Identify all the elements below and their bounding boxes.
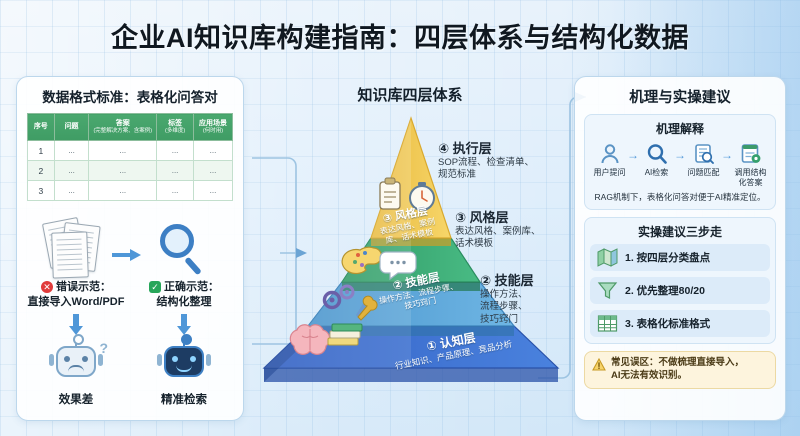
structured-answer-icon	[733, 141, 768, 167]
flow-step-match: 问题匹配	[686, 141, 721, 178]
correct-example-label: ✓ 正确示范： 结构化整理	[132, 280, 236, 310]
step-item-3[interactable]: 3. 表格化标准格式	[590, 310, 770, 337]
table-icon	[597, 314, 618, 333]
steps-title: 实操建议三步走	[590, 223, 770, 240]
down-arrow-icon	[177, 314, 191, 336]
table-row: 3 ... ... ... ...	[28, 181, 233, 201]
cell-seq: 2	[28, 161, 55, 181]
cell-seq: 1	[28, 141, 55, 161]
page-title: 企业AI知识库构建指南：四层体系与结构化数据	[0, 16, 800, 55]
cell-answer: ...	[89, 141, 157, 161]
flow-arrow-icon: →	[627, 141, 639, 162]
cell-scenario: ...	[194, 141, 233, 161]
cell-answer: ...	[89, 181, 157, 201]
cell-question: ...	[54, 181, 89, 201]
four-layer-pyramid: ③ 风格层 表达风格、案例 库、话术模板 ② 技能层 操作方法、流程步骤、 技巧…	[252, 110, 570, 400]
flow-arrow-icon: →	[674, 141, 686, 162]
qa-table: 序号 问题 答案 (完整解决方案、含案例) 标签 (多维度) 应用场景	[27, 113, 233, 201]
cell-tag: ...	[157, 181, 194, 201]
step-item-1[interactable]: 1. 按四层分类盘点	[590, 244, 770, 271]
table-header-row: 序号 问题 答案 (完整解决方案、含案例) 标签 (多维度) 应用场景	[28, 114, 233, 141]
flow-step-answer: 调用结构 化答案	[733, 141, 768, 187]
cell-question: ...	[54, 161, 89, 181]
clipboard-icon	[380, 178, 400, 209]
common-mistake-warning: 常见误区：不做梳理直接导入， AI无法有效识别。	[584, 351, 776, 389]
magnifier-icon	[132, 218, 236, 280]
flow-step-search: AI检索	[639, 141, 674, 178]
down-arrow-icon	[69, 314, 83, 336]
correct-example-column: ✓ 正确示范： 结构化整理 精准检索	[132, 218, 236, 407]
wrong-result-caption: 效果差	[24, 391, 128, 407]
wrong-example-column: ✕ 错误示范： 直接导入Word/PDF ? 效果差	[24, 218, 128, 407]
table-row: 2 ... ... ... ...	[28, 161, 233, 181]
cell-scenario: ...	[194, 181, 233, 201]
correct-result-caption: 精准检索	[132, 391, 236, 407]
flow-step-user: 用户提问	[592, 141, 627, 178]
sad-robot-icon: ?	[24, 338, 128, 388]
cell-tag: ...	[157, 141, 194, 161]
th-tag: 标签 (多维度)	[157, 114, 194, 141]
happy-robot-icon	[132, 338, 236, 388]
check-icon: ✓	[149, 281, 161, 293]
stacked-documents-icon	[24, 218, 128, 280]
right-panel-title: 机理与实操建议	[575, 77, 785, 114]
cross-icon: ✕	[41, 281, 53, 293]
th-answer: 答案 (完整解决方案、含案例)	[89, 114, 157, 141]
th-seq: 序号	[28, 114, 55, 141]
funnel-icon	[597, 281, 618, 300]
qa-table-wrapper: 序号 问题 答案 (完整解决方案、含案例) 标签 (多维度) 应用场景	[17, 113, 243, 201]
search-icon	[639, 141, 674, 167]
map-icon	[597, 248, 618, 267]
books-icon	[328, 324, 362, 345]
steps-card: 实操建议三步走 1. 按四层分类盘点 2. 优先整理80/20	[584, 217, 776, 344]
mechanism-flow: 用户提问 → AI检索 →	[590, 141, 770, 187]
mechanism-card: 机理解释 用户提问 → AI检索	[584, 114, 776, 210]
table-row: 1 ... ... ... ...	[28, 141, 233, 161]
cell-tag: ...	[157, 161, 194, 181]
th-question: 问题	[54, 114, 89, 141]
warning-text: 常见误区：不做梳理直接导入， AI无法有效识别。	[611, 357, 744, 383]
cell-question: ...	[54, 141, 89, 161]
left-panel-title: 数据格式标准：表格化问答对	[17, 77, 243, 113]
compare-block: ✕ 错误示范： 直接导入Word/PDF ? 效果差 ✓ 正确示范：	[16, 218, 244, 421]
pyramid-title: 知识库四层体系	[250, 84, 570, 105]
cell-seq: 3	[28, 181, 55, 201]
document-match-icon	[686, 141, 721, 167]
warning-triangle-icon	[592, 358, 606, 371]
mechanism-title: 机理解释	[590, 120, 770, 137]
step-item-2[interactable]: 2. 优先整理80/20	[590, 277, 770, 304]
wrong-example-label: ✕ 错误示范： 直接导入Word/PDF	[24, 280, 128, 310]
cell-answer: ...	[89, 161, 157, 181]
th-scenario: 应用场景 (何时用)	[194, 114, 233, 141]
user-icon	[592, 141, 627, 167]
rag-note: RAG机制下，表格化问答对便于AI精准定位。	[590, 192, 770, 203]
cell-scenario: ...	[194, 161, 233, 181]
flow-arrow-icon: →	[721, 141, 733, 162]
mechanism-advice-panel: 机理与实操建议 机理解释 用户提问 →	[574, 76, 786, 421]
